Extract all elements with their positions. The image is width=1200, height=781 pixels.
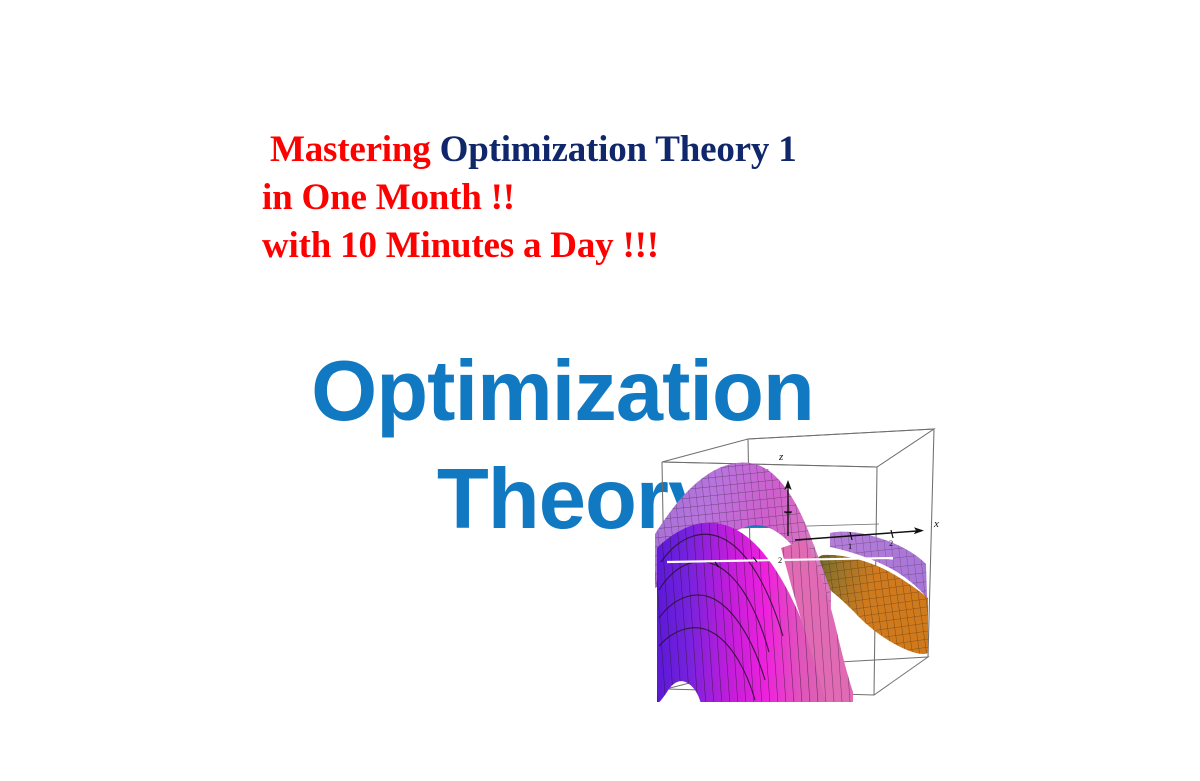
headline-subject-text: Optimization Theory 1 <box>440 129 797 170</box>
headline-line-1: Mastering Optimization Theory 1 <box>262 126 1022 174</box>
headline-mastering-text: Mastering <box>270 129 440 170</box>
surface-plot-figure: z x 1 2 2 1 <box>645 412 950 702</box>
tick-label-z-1: 1 <box>783 511 793 515</box>
axis-label-z: z <box>778 451 784 463</box>
axis-label-x: x <box>933 518 939 530</box>
headline-line-2: in One Month !! <box>262 174 1022 222</box>
slide-canvas: Mastering Optimization Theory 1 in One M… <box>0 0 1200 781</box>
headline-line-3: with 10 Minutes a Day !!! <box>262 222 1022 270</box>
tick-label-x-1: 1 <box>848 541 852 551</box>
headline-block: Mastering Optimization Theory 1 in One M… <box>262 126 1022 270</box>
tick-label-y-2: 2 <box>778 555 782 565</box>
tick-label-x-2: 2 <box>889 538 893 548</box>
